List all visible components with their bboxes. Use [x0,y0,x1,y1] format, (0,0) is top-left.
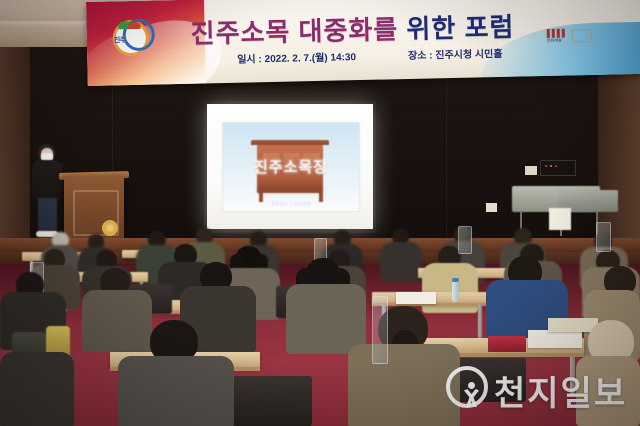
red-notebook [488,336,526,352]
water-bottle [452,282,459,302]
forum-photograph: 진주소목장 경상남도 무형문화재 진주 진주소목 대중화를 위한 포럼 일시 :… [0,0,640,426]
control-panel [540,160,576,176]
acrylic-divider [458,226,472,254]
banner-place: 장소 : 진주시청 시민홀 [408,49,503,62]
podium-emblem [102,220,118,236]
acrylic-divider [372,296,388,364]
banner-date: 일시 : 2022. 2. 7.(월) 14:30 [237,52,356,66]
slide-title: 진주소목장 [223,156,359,177]
watermark-text: 천지일보 [494,366,627,415]
left-wall-panel [0,47,30,247]
banner-title-part1: 진주소목 대중화를 [190,14,398,49]
microphone [57,152,64,159]
jinju-city-emblem: 진주 [108,19,153,54]
chair-back [226,376,312,426]
presenter-body [32,160,62,202]
event-banner: 진주 진주소목 대중화를 위한 포럼 일시 : 2022. 2. 7.(월) 1… [86,0,640,86]
wall-seam [446,50,447,240]
paper-handout [396,292,436,304]
sponsor-logo-label: 문화재청 [547,38,562,44]
acrylic-divider [596,222,611,252]
wall-sign [525,166,537,175]
presenter-legs [38,198,57,234]
cheonji-person-circle-icon [446,366,488,408]
banner-title-part2: 위한 포럼 [398,12,515,45]
wall-outlet-box [486,203,497,212]
slide-caption: 경상남도 무형문화재 [223,201,359,207]
right-wall-panel [598,47,640,247]
emblem-label: 진주 [114,35,126,45]
watermark: 천지일보 [446,362,636,414]
sponsor-logo: 문화재청 [547,27,593,46]
paper-on-stand [549,208,571,230]
presentation-slide: 진주소목장 경상남도 무형문화재 [222,122,360,212]
projection-screen: 진주소목장 경상남도 무형문화재 [207,104,373,229]
paper-handout [528,330,582,348]
